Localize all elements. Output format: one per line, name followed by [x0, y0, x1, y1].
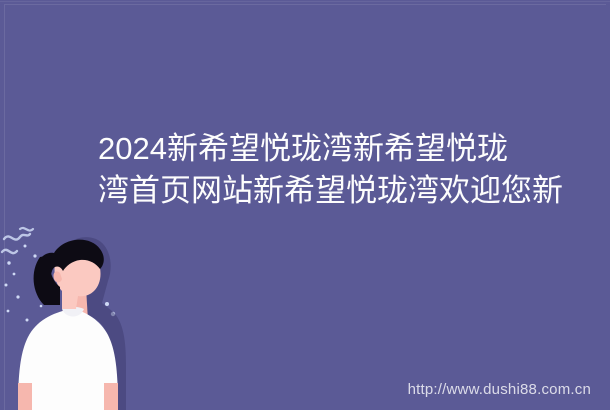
headline-line-1: 2024新希望悦珑湾新希望悦珑	[98, 128, 610, 170]
page-title: 2024新希望悦珑湾新希望悦珑 湾首页网站新希望悦珑湾欢迎您新	[98, 128, 610, 212]
top-hairline	[0, 1, 610, 2]
left-arm	[18, 383, 32, 410]
headline-line-2: 湾首页网站新希望悦珑湾欢迎您新	[98, 170, 610, 212]
person-looking-up-illustration	[0, 225, 200, 410]
right-arm	[104, 383, 118, 410]
watermark-url: http://www.dushi88.com.cn	[408, 381, 591, 399]
promo-banner: 2024新希望悦珑湾新希望悦珑 湾首页网站新希望悦珑湾欢迎您新 http://w…	[0, 0, 610, 410]
squiggle-icon	[2, 228, 33, 253]
